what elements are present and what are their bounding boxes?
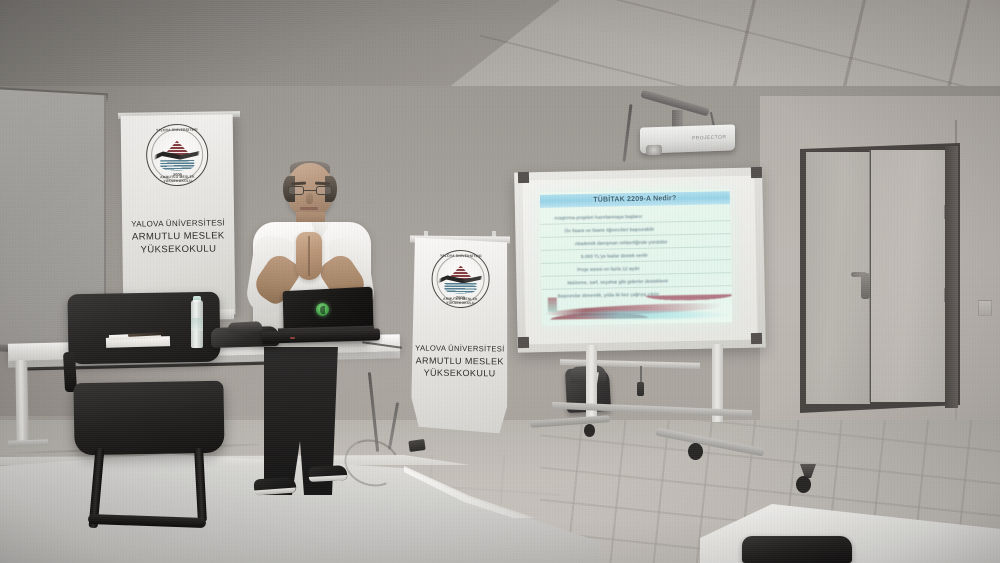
- slide-bullet-text: Araştırma projeleri hazırlanmaya başlanı…: [554, 213, 642, 220]
- slide-title: TÜBİTAK 2209-A Nedir?: [593, 195, 676, 204]
- presenter-nose: [306, 193, 313, 204]
- logo-water-mark: [445, 283, 476, 293]
- whiteboard-caster-left: [584, 424, 595, 437]
- banner-left: YALOVA ÜNİVERSİTESİ 2009 ARMUTLU MESLEK …: [121, 114, 236, 316]
- banner-left-line1: YALOVA ÜNİVERSİTESİ: [122, 218, 234, 229]
- logo-text-bottom: ARMUTLU MESLEK YÜKSEKOKULU: [432, 297, 488, 306]
- chair-seat[interactable]: [73, 381, 224, 456]
- logo-swoosh-mark: [437, 274, 484, 287]
- whiteboard-caster-right: [796, 476, 811, 493]
- laptop-power-led: [290, 337, 295, 339]
- slide-bullet-text: Malzeme, sarf, seyahat gibi giderler des…: [567, 278, 668, 285]
- bag-on-desk-top: [228, 321, 262, 333]
- floor-socket-box[interactable]: [408, 439, 425, 452]
- logo-year: 2009: [456, 295, 465, 300]
- presenter-hands-seam: [308, 236, 310, 276]
- hanging-adapter: [637, 382, 644, 396]
- desk-leg-left: [15, 360, 28, 446]
- logo-mountain-mark: [447, 265, 474, 280]
- banner-right-line1: YALOVA ÜNİVERSİTESİ: [412, 343, 508, 353]
- university-logo-icon: YALOVA ÜNİVERSİTESİ 2009 ARMUTLU MESLEK …: [431, 250, 490, 309]
- slide-bullet-text: Proje süresi en fazla 12 aydır: [577, 265, 640, 271]
- laptop-logo-icon: [316, 303, 329, 316]
- door-handle-icon[interactable]: [861, 273, 870, 299]
- water-bottle-label: [191, 318, 203, 331]
- slide-wave-cyan: [562, 311, 730, 319]
- projector-brand-label: PROJECTOR: [692, 134, 726, 141]
- slide-body: Araştırma projeleri hazırlanmaya başlanı…: [540, 208, 732, 304]
- projector-lens: [646, 145, 662, 156]
- glasses-bridge: [304, 190, 316, 191]
- university-logo-icon: YALOVA ÜNİVERSİTESİ 2009 ARMUTLU MESLEK …: [146, 124, 209, 187]
- slide-bullet-text: Akademik danışman rehberliğinde yürütülü…: [575, 239, 668, 246]
- logo-swoosh-mark: [152, 150, 203, 164]
- banner-right: YALOVA ÜNİVERSİTESİ 2009 ARMUTLU MESLEK …: [411, 238, 509, 434]
- whiteboard-corner-tr: [751, 167, 762, 178]
- logo-water-mark: [160, 160, 194, 171]
- slide-bullet-text: Ön lisans ve lisans öğrencileri başvurab…: [564, 226, 654, 233]
- whiteboard-caster-center: [688, 443, 703, 460]
- logo-text-top: YALOVA ÜNİVERSİTESİ: [147, 128, 207, 133]
- slide-bullet-text: 5.000 TL'ye kadar destek verilir: [581, 252, 648, 258]
- logo-text-top: YALOVA ÜNİVERSİTESİ: [433, 254, 489, 259]
- whiteboard-corner-br: [751, 333, 762, 344]
- banner-right-line2: ARMUTLU MESLEK: [412, 355, 508, 366]
- banner-left-line3: YÜKSEKOKULU: [122, 243, 234, 256]
- glasses-lens-right: [316, 186, 332, 195]
- presenter-mouth: [300, 207, 318, 210]
- whiteboard-corner-bl: [518, 337, 529, 348]
- banner-left-line2: ARMUTLU MESLEK: [122, 230, 234, 243]
- banner-right-line3: YÜKSEKOKULU: [412, 367, 508, 378]
- logo-mountain-mark: [163, 140, 192, 156]
- slide-title-bar: TÜBİTAK 2209-A Nedir?: [540, 191, 730, 208]
- door-leaf-right[interactable]: [871, 150, 949, 402]
- projected-slide: TÜBİTAK 2209-A Nedir? Araştırma projeler…: [540, 189, 733, 326]
- door-frame-right-jamb: [945, 146, 958, 408]
- foreground-object-on-table[interactable]: [742, 536, 852, 563]
- whiteboard-corner-tl: [518, 172, 529, 183]
- glasses-lens-left: [288, 186, 304, 195]
- whiteboard-stand-leg-left: [586, 345, 597, 423]
- light-switch[interactable]: [978, 300, 992, 316]
- logo-text-bottom: ARMUTLU MESLEK YÜKSEKOKULU: [147, 175, 207, 184]
- classroom-photo-scene: PROJECTOR TÜBİTAK 2209-A Nedir? Araştırm…: [0, 0, 1000, 563]
- slide-corner-logo-icon: [548, 298, 557, 312]
- logo-year: 2009: [173, 172, 182, 177]
